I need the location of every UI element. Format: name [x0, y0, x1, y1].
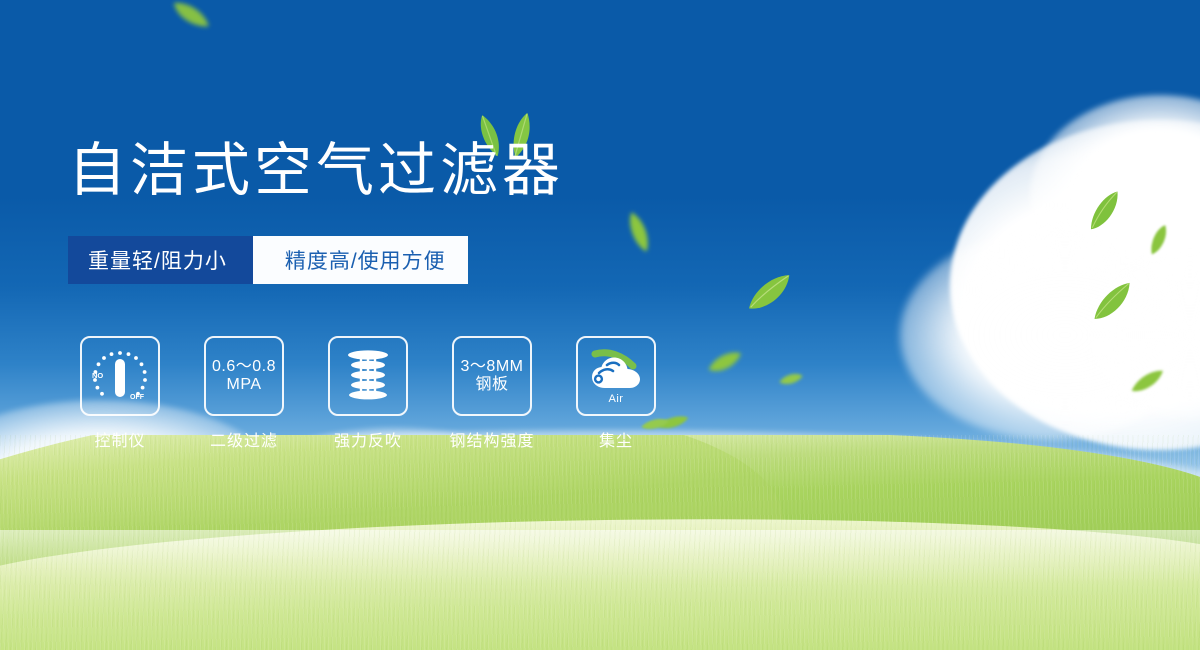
leaf-icon: [777, 370, 805, 388]
leaf-icon: [703, 345, 748, 379]
cloud-shape: [1030, 95, 1200, 295]
air-label: Air: [585, 393, 647, 405]
feature-text-line1: 0.6～0.8: [212, 358, 276, 376]
feature-item-controller[interactable]: NO OFF 控制仪: [70, 336, 170, 451]
feature-item-backblow[interactable]: 强力反吹: [318, 336, 418, 451]
leaf-icon: [1085, 275, 1142, 328]
feature-icon-box: 0.6～0.8 MPA: [204, 336, 284, 416]
feature-caption: 强力反吹: [334, 427, 402, 451]
feature-list: NO OFF 控制仪 0.6～0.8 MPA 二级过滤: [70, 336, 690, 451]
cloud-shape: [900, 230, 1200, 440]
cloud-air-icon: Air: [585, 348, 647, 404]
gauge-icon: NO OFF: [89, 347, 151, 405]
feature-caption: 钢结构强度: [449, 427, 534, 451]
subtitle-bar: 重量轻/阻力小 精度高/使用方便: [68, 236, 468, 284]
svg-text:NO: NO: [92, 371, 103, 380]
feature-text-line2: 钢板: [475, 376, 508, 394]
grass-texture: [0, 435, 1200, 650]
cloud-shape: [950, 120, 1200, 450]
feature-caption: 集尘: [599, 427, 633, 451]
feature-item-pressure[interactable]: 0.6～0.8 MPA 二级过滤: [194, 336, 294, 451]
feature-caption: 二级过滤: [210, 427, 278, 451]
feature-caption: 控制仪: [94, 427, 145, 451]
leaf-icon: [1126, 364, 1170, 399]
leaf-icon: [1081, 185, 1130, 237]
leaf-icon: [740, 267, 801, 320]
product-banner: 自洁式空气过滤器 重量轻/阻力小 精度高/使用方便: [0, 0, 1200, 650]
svg-text:OFF: OFF: [130, 394, 145, 401]
leaf-icon: [622, 207, 655, 257]
feature-icon-box: [328, 336, 408, 416]
feature-text-line2: MPA: [227, 376, 262, 394]
leaf-icon: [166, 0, 216, 38]
page-title: 自洁式空气过滤器: [68, 142, 564, 200]
feature-icon-box: 3～8MM 钢板: [452, 336, 532, 416]
feature-text-line1: 3～8MM: [461, 358, 524, 376]
filter-coil-icon: [341, 348, 395, 404]
grass-field: [0, 435, 1200, 650]
subtitle-slash-divider: [253, 236, 279, 284]
cloud-shape: [1080, 250, 1200, 420]
feature-icon-box: NO OFF: [80, 336, 160, 416]
feature-icon-box: Air: [576, 336, 656, 416]
subtitle-left: 重量轻/阻力小: [68, 236, 253, 284]
leaf-icon: [1144, 221, 1175, 258]
subtitle-right: 精度高/使用方便: [279, 236, 468, 284]
feature-item-dust[interactable]: Air 集尘: [566, 336, 666, 451]
feature-item-steel[interactable]: 3～8MM 钢板 钢结构强度: [442, 336, 542, 451]
